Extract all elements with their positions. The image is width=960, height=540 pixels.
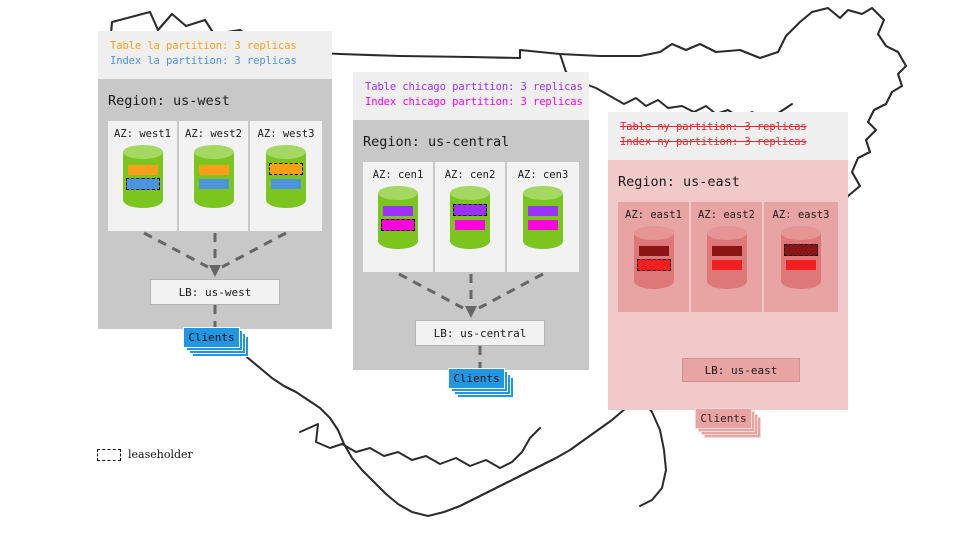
node-cylinder-east1[interactable]: [634, 226, 674, 291]
load-balancer-us-central[interactable]: LB: us-central: [415, 320, 545, 346]
clients-label: Clients: [453, 372, 499, 385]
cylinder-cap: [781, 226, 821, 240]
lb-to-clients-connector-us-central: [467, 346, 493, 370]
lb-label: LB: us-west: [179, 286, 252, 299]
cylinder-cap: [123, 145, 163, 159]
az-cell-west2[interactable]: AZ: west2: [179, 121, 250, 231]
clients-node-us-east[interactable]: Clients: [695, 408, 761, 438]
node-cylinder-cen1[interactable]: [378, 186, 418, 251]
az-label-east2: AZ: east2: [698, 209, 755, 221]
cylinder-cap: [523, 186, 563, 200]
clients-label: Clients: [188, 331, 234, 344]
cylinder-cap: [450, 186, 490, 200]
header-line-table: Table ny partition: 3 replicas: [620, 120, 836, 135]
replica-bar-index: [455, 220, 485, 230]
az-row-us-west: AZ: west1 AZ: west2 AZ: west3: [108, 121, 322, 231]
arrowhead: [465, 306, 477, 318]
replica-bar-table: [639, 246, 669, 256]
az-label-cen1: AZ: cen1: [373, 169, 424, 181]
az-cell-cen1[interactable]: AZ: cen1: [363, 162, 435, 272]
connector-left: [399, 274, 463, 308]
node-cylinder-cen2[interactable]: [450, 186, 490, 251]
clients-node-us-west[interactable]: Clients: [183, 327, 249, 357]
region-title-us-east: Region: us-east: [618, 174, 740, 190]
arrowhead: [209, 265, 221, 277]
map-detail-florida: [640, 396, 666, 506]
az-label-west1: AZ: west1: [114, 128, 171, 140]
replica-bar-table: [128, 165, 158, 175]
node-cylinder-cen3[interactable]: [523, 186, 563, 251]
replica-bar-table: [199, 165, 229, 175]
node-cylinder-west3[interactable]: [266, 145, 306, 210]
lb-label: LB: us-east: [705, 364, 778, 377]
az-row-us-east: AZ: east1 AZ: east2 AZ: east3: [618, 202, 838, 312]
legend: leaseholder: [97, 448, 193, 461]
lb-label: LB: us-central: [434, 327, 527, 340]
load-balancer-us-east[interactable]: LB: us-east: [682, 358, 800, 382]
replica-bar-index: [786, 260, 816, 270]
lb-to-clients-connector-us-west: [202, 305, 228, 329]
region-us-west: Table la partition: 3 replicas Index la …: [98, 31, 332, 329]
replica-bar-index: [199, 179, 229, 189]
az-cell-east1[interactable]: AZ: east1: [618, 202, 691, 312]
legend-label: leaseholder: [128, 448, 193, 461]
region-title-us-central: Region: us-central: [363, 134, 509, 150]
region-us-east: Table ny partition: 3 replicas Index ny …: [608, 112, 848, 410]
region-title-us-west: Region: us-west: [108, 93, 230, 109]
replica-bar-table-leaseholder: [784, 244, 818, 256]
connector-right: [479, 274, 543, 308]
replica-bar-table-leaseholder: [269, 163, 303, 175]
az-cell-west3[interactable]: AZ: west3: [250, 121, 322, 231]
cylinder-cap: [707, 226, 747, 240]
dashed-rect-icon: [97, 449, 121, 461]
az-label-west2: AZ: west2: [185, 128, 242, 140]
replica-bar-table: [383, 206, 413, 216]
region-header-us-west: Table la partition: 3 replicas Index la …: [98, 31, 332, 79]
clients-box[interactable]: Clients: [183, 327, 240, 348]
clients-box[interactable]: Clients: [695, 408, 752, 429]
az-row-us-central: AZ: cen1 AZ: cen2 AZ: cen3: [363, 162, 579, 272]
replica-bar-index: [712, 260, 742, 270]
az-label-east1: AZ: east1: [625, 209, 682, 221]
replica-bar-table: [528, 206, 558, 216]
cylinder-cap: [266, 145, 306, 159]
az-label-cen2: AZ: cen2: [445, 169, 496, 181]
node-cylinder-east3[interactable]: [781, 226, 821, 291]
az-cell-west1[interactable]: AZ: west1: [108, 121, 179, 231]
connector-left: [144, 233, 208, 267]
region-header-us-central: Table chicago partition: 3 replicas Inde…: [353, 72, 589, 120]
node-cylinder-west2[interactable]: [194, 145, 234, 210]
az-cell-cen3[interactable]: AZ: cen3: [507, 162, 579, 272]
cylinder-cap: [634, 226, 674, 240]
region-body-us-west: Region: us-west AZ: west1 AZ: west2: [98, 79, 332, 329]
az-label-cen3: AZ: cen3: [518, 169, 569, 181]
clients-label: Clients: [700, 412, 746, 425]
replica-bar-table: [712, 246, 742, 256]
cylinder-cap: [378, 186, 418, 200]
header-line-index: Index chicago partition: 3 replicas: [365, 95, 577, 110]
replica-bar-index-leaseholder: [126, 178, 160, 190]
cylinder-cap: [194, 145, 234, 159]
az-label-west3: AZ: west3: [258, 128, 315, 140]
header-line-index: Index ny partition: 3 replicas: [620, 135, 836, 150]
replica-bar-table-leaseholder: [453, 204, 487, 216]
region-us-central: Table chicago partition: 3 replicas Inde…: [353, 72, 589, 370]
connector-right: [222, 233, 286, 267]
region-header-us-east: Table ny partition: 3 replicas Index ny …: [608, 112, 848, 160]
replica-bar-index-leaseholder: [637, 259, 671, 271]
clients-node-us-central[interactable]: Clients: [448, 368, 514, 398]
load-balancer-us-west[interactable]: LB: us-west: [150, 279, 280, 305]
replica-bar-index: [271, 179, 301, 189]
header-line-index: Index la partition: 3 replicas: [110, 54, 320, 69]
region-body-us-east: Region: us-east AZ: east1 AZ: east2: [608, 160, 848, 410]
az-cell-east3[interactable]: AZ: east3: [764, 202, 838, 312]
az-cell-cen2[interactable]: AZ: cen2: [435, 162, 507, 272]
replica-bar-index-leaseholder: [381, 219, 415, 231]
node-cylinder-west1[interactable]: [123, 145, 163, 210]
replica-bar-index: [528, 220, 558, 230]
clients-box[interactable]: Clients: [448, 368, 505, 389]
header-line-table: Table chicago partition: 3 replicas: [365, 80, 577, 95]
node-cylinder-east2[interactable]: [707, 226, 747, 291]
az-cell-east2[interactable]: AZ: east2: [691, 202, 764, 312]
az-label-east3: AZ: east3: [773, 209, 830, 221]
region-body-us-central: Region: us-central AZ: cen1 AZ: cen2: [353, 120, 589, 370]
header-line-table: Table la partition: 3 replicas: [110, 39, 320, 54]
